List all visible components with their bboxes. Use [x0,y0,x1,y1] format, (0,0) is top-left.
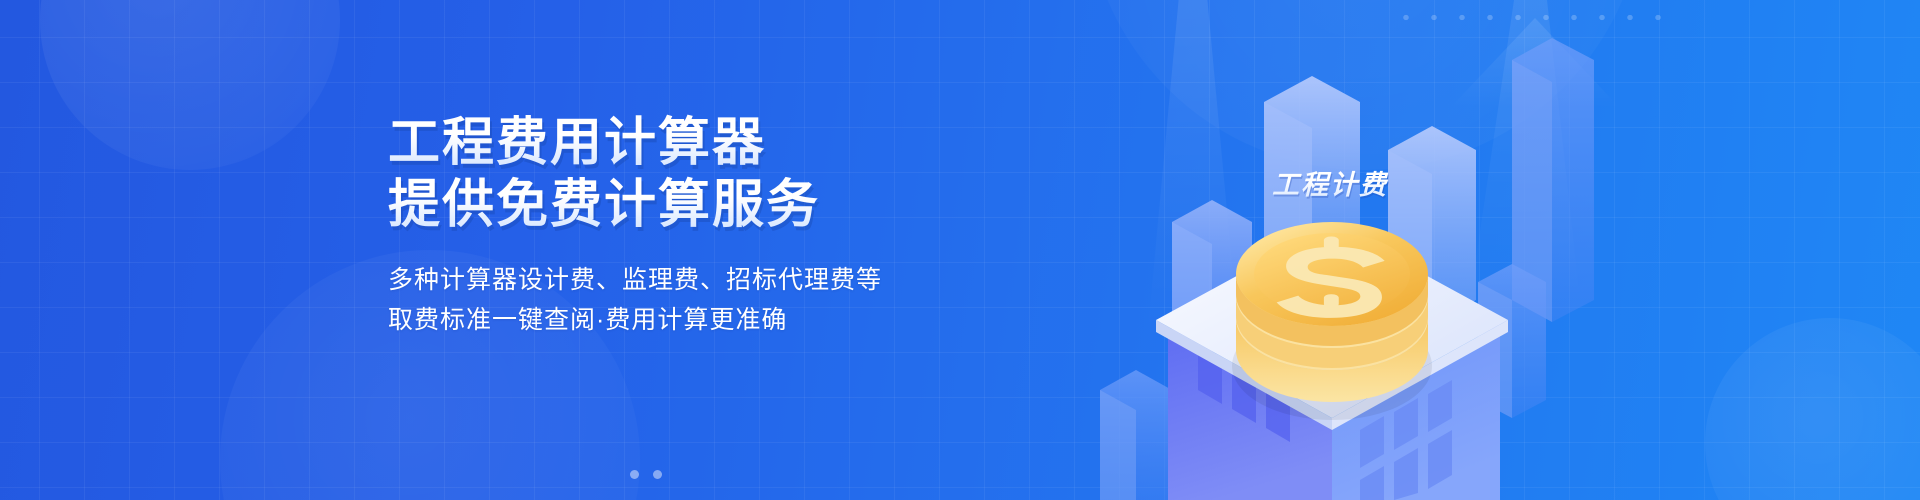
illustration-label: 工程计费 [1272,163,1388,202]
promo-banner: 工程费用计算器 提供免费计算服务 多种计算器设计费、监理费、招标代理费等 取费标… [0,0,1920,500]
gold-coin-stack [1232,222,1432,420]
banner-copy-block: 工程费用计算器 提供免费计算服务 多种计算器设计费、监理费、招标代理费等 取费标… [388,112,1028,340]
isometric-illustration: 工程计费 [1060,0,1620,500]
carousel-dot-2[interactable] [653,470,662,479]
background-bar-small-left [1100,370,1172,500]
headline-line-1: 工程费用计算器 [388,112,1028,174]
subtitle-line-2: 取费标准一键查阅·费用计算更准确 [388,300,1028,340]
headline-line-2: 提供免费计算服务 [388,174,1028,236]
carousel-indicator[interactable] [630,470,662,479]
illustration-svg [1060,0,1620,500]
subtitle-line-1: 多种计算器设计费、监理费、招标代理费等 [388,260,1028,300]
carousel-dot-1[interactable] [630,470,639,479]
